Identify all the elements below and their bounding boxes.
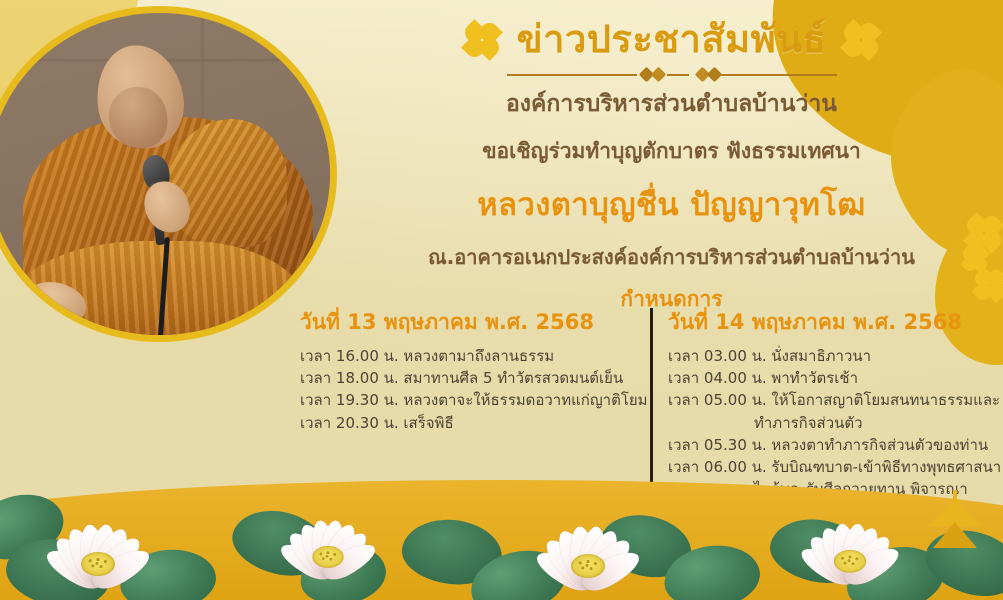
schedule-line: เวลา 05.00 น. ให้โอกาสญาติโยมสนทนาธรรมแล… (668, 391, 1000, 409)
lotus-flower-icon (38, 508, 158, 592)
list-item: เวลา 16.00 น. หลวงตามาถึงลานธรรม (300, 345, 632, 367)
schedule-line: เวลา 04.00 น. พาทำวัตรเช้า (668, 369, 858, 387)
ornate-divider (507, 66, 837, 82)
venue-text: ณ.อาคารอเนกประสงค์องค์การบริหารส่วนตำบลบ… (340, 241, 1003, 273)
list-item: เวลา 18.00 น. สมาทานศีล 5 ทำวัตรสวดมนต์เ… (300, 367, 632, 389)
list-item: เวลา 05.00 น. ให้โอกาสญาติโยมสนทนาธรรมแล… (668, 389, 1003, 433)
pagoda-icon (927, 496, 983, 556)
organization-name: องค์การบริหารส่วนตำบลบ้านว่าน (340, 86, 1003, 122)
schedule-line: เวลา 16.00 น. หลวงตามาถึงลานธรรม (300, 347, 554, 365)
schedule-line: เวลา 18.00 น. สมาทานศีล 5 ทำวัตรสวดมนต์เ… (300, 369, 623, 387)
header-block: ข่าวประชาสัมพันธ์ องค์การบริหารส่วนตำบลบ… (340, 18, 1003, 316)
schedule-line: เวลา 03.00 น. นั่งสมาธิภาวนา (668, 347, 871, 365)
schedule-line: เวลา 20.30 น. เสร็จพิธี (300, 414, 454, 432)
schedule-line: เวลา 19.30 น. หลวงตาจะให้ธรรมดอวาทแก่ญาต… (300, 391, 648, 409)
invitation-text: ขอเชิญร่วมทำบุญตักบาตร ฟังธรรมเทศนา (340, 135, 1003, 168)
schedule-line: เวลา 06.00 น. รับบิณฑบาต-เข้าพิธีทางพุทธ… (668, 458, 1001, 476)
list-item: เวลา 05.30 น. หลวงตาทำภารกิจส่วนตัวของท่… (668, 434, 1003, 456)
list-item: เวลา 19.30 น. หลวงตาจะให้ธรรมดอวาทแก่ญาต… (300, 389, 632, 411)
quatrefoil-icon (465, 23, 499, 57)
page-title: ข่าวประชาสัมพันธ์ (517, 18, 827, 62)
lotus-flower-icon (793, 508, 907, 588)
title-row: ข่าวประชาสัมพันธ์ (340, 18, 1003, 62)
lotus-flower-icon (528, 510, 648, 594)
announcement-poster: ข่าวประชาสัมพันธ์ องค์การบริหารส่วนตำบลบ… (0, 0, 1003, 600)
list-item: เวลา 04.00 น. พาทำวัตรเช้า (668, 367, 1003, 389)
quatrefoil-icon (844, 23, 878, 57)
day2-heading: วันที่ 14 พฤษภาคม พ.ศ. 2568 (668, 306, 1003, 339)
schedule-line-continued: ทำภารกิจส่วนตัว (668, 412, 1003, 434)
list-item: เวลา 03.00 น. นั่งสมาธิภาวนา (668, 345, 1003, 367)
lotus-flower-icon (273, 505, 383, 582)
list-item: เวลา 20.30 น. เสร็จพิธี (300, 412, 632, 434)
monk-name: หลวงตาบุญชื่น ปัญญาวุทโฒ (340, 179, 1003, 229)
monk-portrait-photo (0, 6, 337, 342)
schedule-line: เวลา 05.30 น. หลวงตาทำภารกิจส่วนตัวของท่… (668, 436, 988, 454)
day1-heading: วันที่ 13 พฤษภาคม พ.ศ. 2568 (300, 306, 632, 339)
